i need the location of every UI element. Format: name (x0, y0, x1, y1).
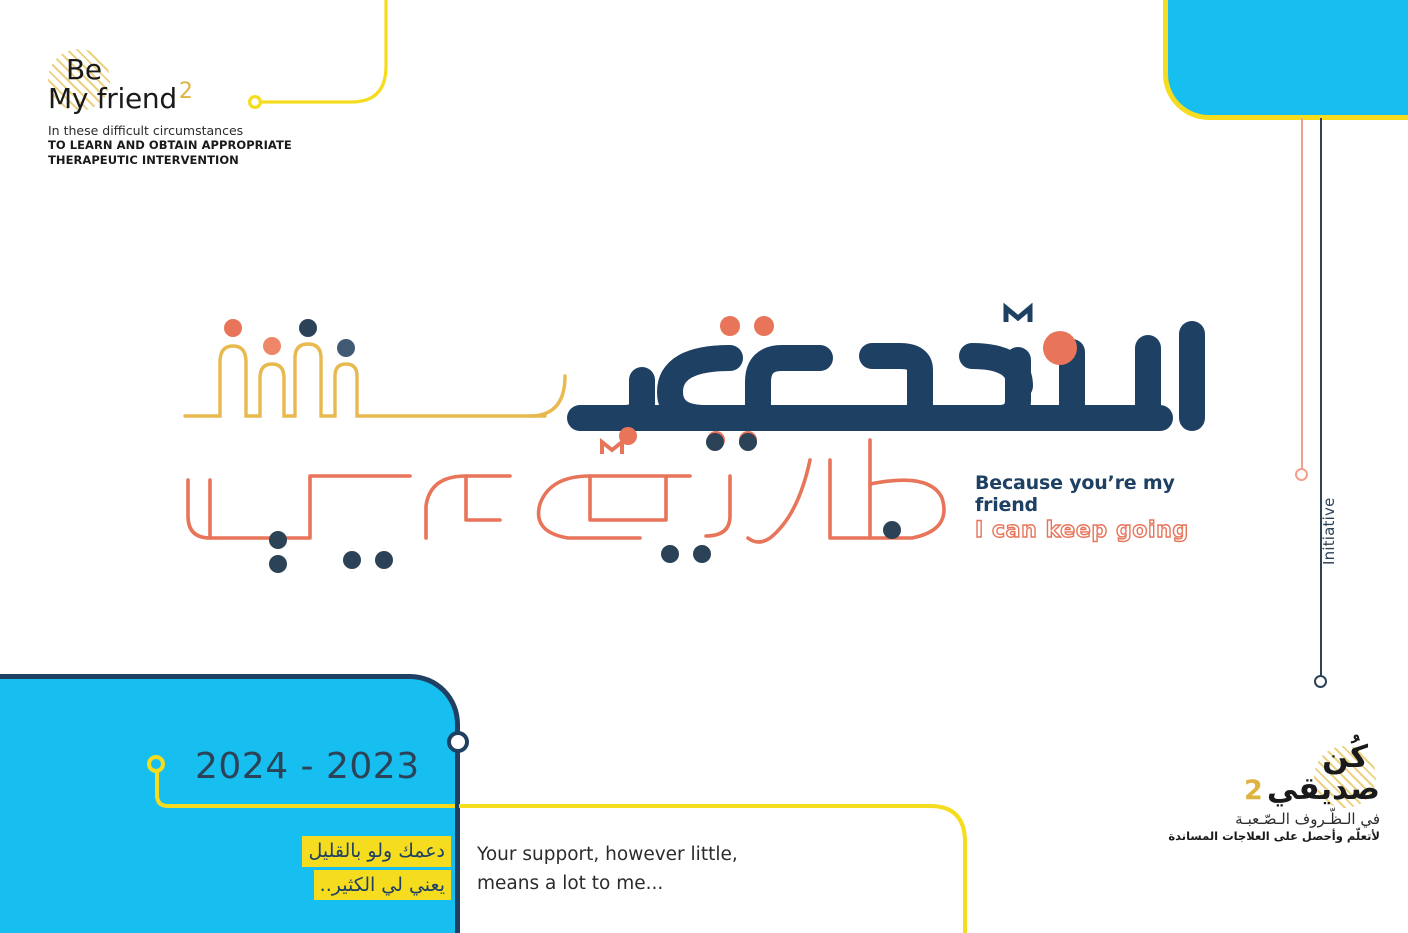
orange-vertical-rule (1301, 118, 1303, 473)
arabic-quote-line1: دعمك ولو بالقليل (302, 836, 451, 867)
year-range-label: 2024 - 2023 (195, 746, 420, 787)
brand-superscript-2: 2 (179, 79, 193, 104)
brand-arabic-line4: لأتعلّم وأحصل على العلاجات المساندة (1168, 829, 1380, 843)
brand-arabic-line2: صديقي2 (1168, 773, 1380, 806)
brand-subtitle-line1: In these difficult circumstances (48, 123, 338, 138)
navy-pin-stem (455, 752, 459, 933)
brand-subtitle-line2: TO LEARN AND OBTAIN APPROPRIATE (48, 138, 338, 153)
arabic-headline-line2-calligraphy (170, 420, 970, 590)
tagline-line2: I can keep going (975, 518, 1215, 543)
brand-arabic-line1: كُن (1168, 742, 1380, 773)
tagline-line1: Because you’re my friend (975, 472, 1215, 516)
brand-arabic-line3: في الـظّـروف الـصّـعبـة (1168, 810, 1380, 828)
brand-arabic-line2-text: صديقي (1267, 771, 1380, 807)
brand-lockup-arabic: كُن صديقي2 في الـظّـروف الـصّـعبـة لأتعل… (1168, 742, 1380, 843)
arabic-quote-line2: يعني لي الكثير.. (314, 870, 451, 901)
brand-subtitle-line3: THERAPEUTIC INTERVENTION (48, 153, 338, 168)
brand-arabic-superscript-2: 2 (1244, 775, 1263, 806)
orange-rule-end-dot-icon (1295, 468, 1308, 481)
english-tagline: Because you’re my friend I can keep goin… (975, 472, 1215, 543)
cyan-block-top-right (1163, 0, 1408, 120)
year-connector-dot-icon (147, 755, 165, 773)
navy-vertical-rule (1320, 118, 1322, 681)
english-quote-line1: Your support, however little, (477, 841, 797, 870)
brand-lockup-latin: Be My friend2 In these difficult circums… (48, 55, 338, 168)
english-quote-line2: means a lot to me... (477, 870, 797, 899)
gold-flourish-decoration (175, 318, 575, 438)
poster-canvas: Initiative (0, 0, 1408, 933)
navy-rule-end-dot-icon (1314, 675, 1327, 688)
initiative-vertical-label: Initiative (1320, 498, 1338, 566)
english-quote: Your support, however little, means a lo… (477, 841, 797, 898)
brand-my-friend-text: My friend (48, 82, 177, 115)
arabic-quote: دعمك ولو بالقليل يعني لي الكثير.. (223, 836, 451, 900)
navy-pin-ring-icon (447, 731, 469, 753)
arabic-headline-line1-calligraphy (520, 300, 1220, 450)
brand-line-be: Be (66, 55, 338, 84)
brand-line-my-friend: My friend2 (48, 84, 338, 113)
